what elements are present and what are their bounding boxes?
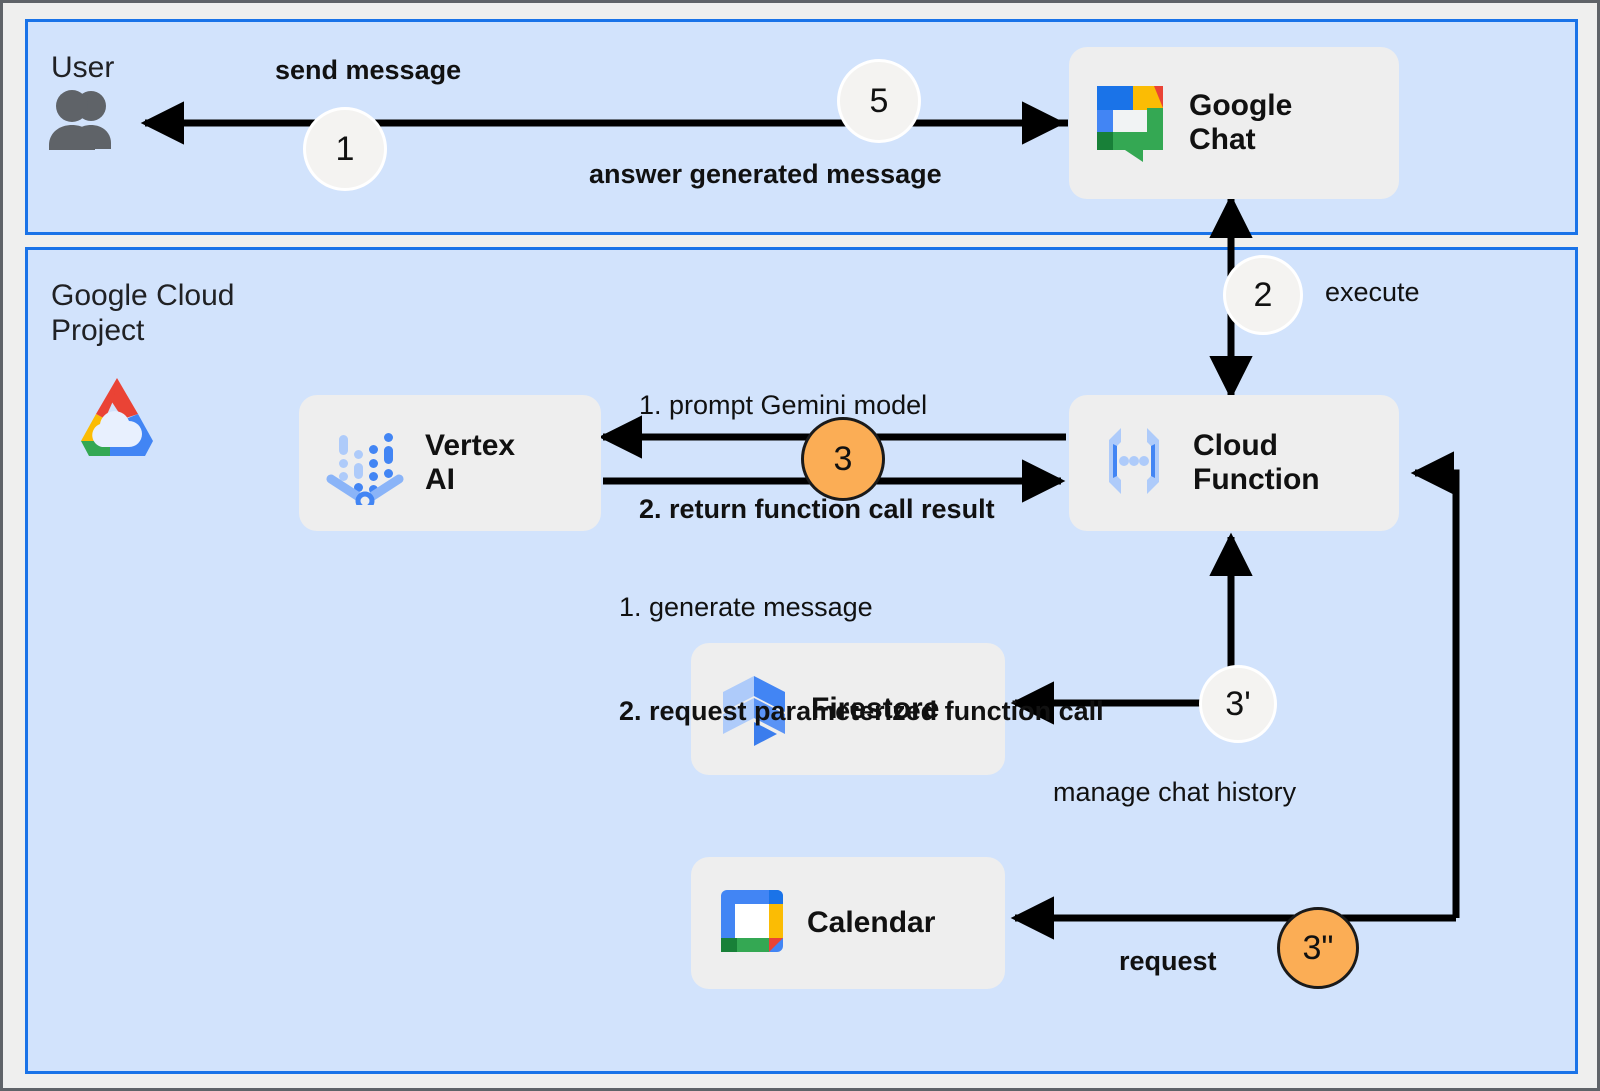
vertex-ai-icon — [321, 417, 409, 510]
label-manage-chat-history: manage chat history — [1053, 775, 1296, 810]
cloud-function-icon — [1091, 418, 1177, 509]
people-icon — [47, 89, 125, 156]
badge-2: 2 — [1223, 255, 1303, 335]
node-google-chat[interactable]: Google Chat — [1069, 47, 1399, 199]
panel-user-title: User — [51, 51, 114, 86]
badge-3-prime: 3' — [1199, 665, 1277, 743]
node-label: Vertex AI — [425, 429, 515, 496]
architecture-diagram: User Google Cloud Project — [0, 0, 1600, 1091]
badge-3-double-prime: 3" — [1277, 907, 1359, 989]
badge-5: 5 — [837, 59, 921, 143]
label-execute: execute — [1325, 275, 1420, 310]
label-prompt-gemini-model: 1. prompt Gemini model — [639, 388, 995, 423]
node-calendar[interactable]: Calendar — [691, 857, 1005, 989]
label-send-message: send message — [275, 53, 461, 88]
label-request-parameterized-function-call: 2. request parameterized function call — [619, 694, 1104, 729]
node-label: Google Chat — [1189, 89, 1292, 156]
label-answer-generated-message: answer generated message — [589, 157, 942, 192]
node-label: Cloud Function — [1193, 429, 1320, 496]
label-request: request — [1119, 944, 1217, 979]
node-vertex-ai[interactable]: Vertex AI — [299, 395, 601, 531]
google-calendar-icon — [713, 882, 791, 965]
node-cloud-function[interactable]: Cloud Function — [1069, 395, 1399, 531]
badge-3: 3 — [801, 417, 885, 501]
badge-1: 1 — [303, 107, 387, 191]
label-generate-message: 1. generate message — [619, 590, 1104, 625]
panel-cloud-title: Google Cloud Project — [51, 279, 234, 349]
node-label: Calendar — [807, 906, 935, 940]
google-chat-icon — [1091, 80, 1173, 167]
google-cloud-icon — [65, 375, 169, 466]
